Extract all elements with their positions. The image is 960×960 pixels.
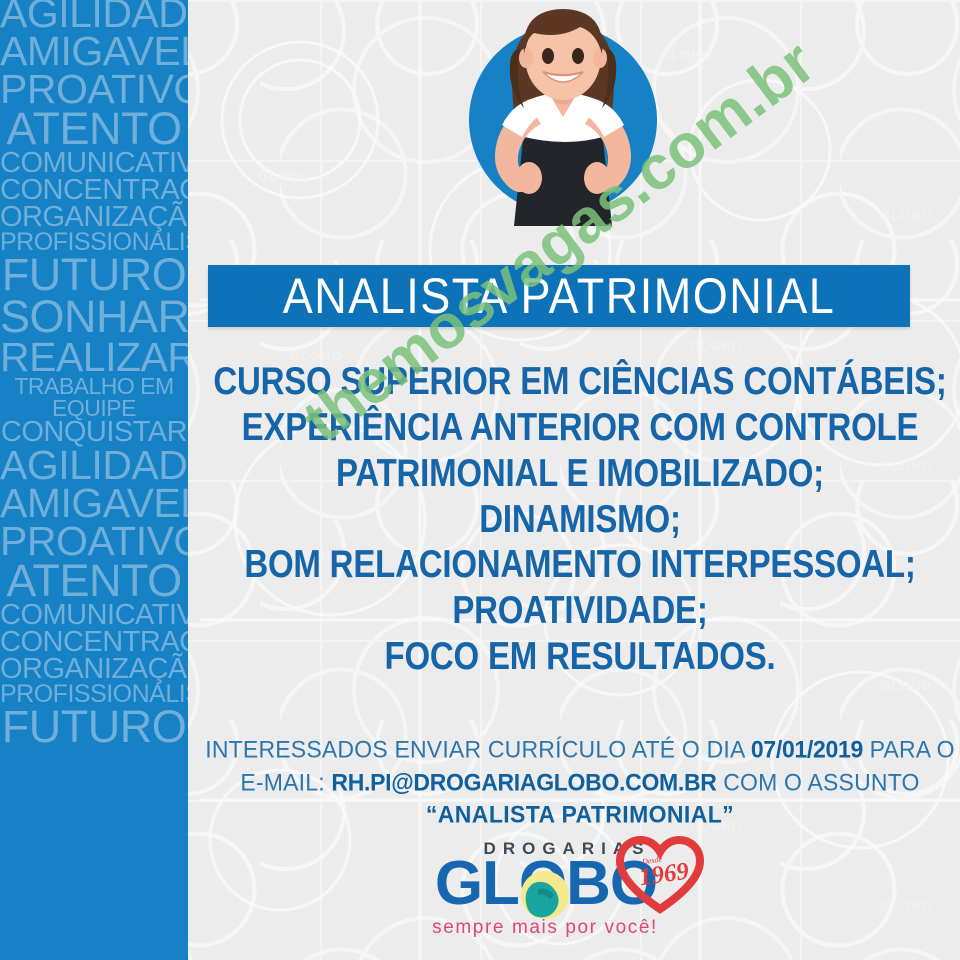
requirements-list: CURSO SUPERIOR EM CIÊNCIAS CONTÁBEIS;EXP… xyxy=(200,358,960,679)
keyword-item: ORGANIZAÇÃO xyxy=(0,656,188,683)
deadline-line: INTERESSADOS ENVIAR CURRÍCULO ATÉ O DIA … xyxy=(200,732,960,767)
company-logo: DROGARIAS GLOBO sempre mais por você! De… xyxy=(400,833,720,945)
keyword-sidebar: AGILIDADEAMIGAVELPROATIVOATENTOCOMUNICAT… xyxy=(0,0,188,960)
page-title: ANALISTA PATRIMONIAL xyxy=(283,267,836,325)
heart-badge: Desde 1969 xyxy=(614,835,706,917)
keyword-item: COMUNICATIVO xyxy=(0,150,188,177)
requirement-line: FOCO EM RESULTADOS. xyxy=(200,629,960,683)
email-prefix: E-MAIL: xyxy=(240,768,331,796)
email-subject: “ANALISTA PATRIMONIAL” xyxy=(200,797,960,832)
keyword-item: FUTURO xyxy=(0,254,188,296)
logo-globe-icon xyxy=(516,869,574,921)
keyword-item: CONCENTRAÇÃO xyxy=(0,177,188,204)
keyword-item: FUTURO xyxy=(0,706,188,748)
svg-text:GLOBO: GLOBO xyxy=(880,208,933,223)
svg-text:GLOBO: GLOBO xyxy=(258,168,311,183)
logo-tagline: sempre mais por você! xyxy=(430,917,660,939)
keyword-item: AMIGAVEL xyxy=(0,484,188,522)
svg-text:GLOBO: GLOBO xyxy=(880,898,933,913)
keyword-item: ATENTO xyxy=(0,560,188,602)
keyword-item: ORGANIZAÇÃO xyxy=(0,204,188,231)
keyword-item: AGILIDADE xyxy=(0,446,188,484)
deadline-prefix: INTERESSADOS ENVIAR CURRÍCULO ATÉ O DIA xyxy=(205,735,751,763)
deadline-suffix: PARA O xyxy=(863,735,955,763)
businesswoman-illustration xyxy=(452,2,674,234)
keyword-item: CONCENTRAÇÃO xyxy=(0,629,188,656)
contact-block: INTERESSADOS ENVIAR CURRÍCULO ATÉ O DIA … xyxy=(200,733,960,831)
email-line: E-MAIL: RH.PI@DROGARIAGLOBO.COM.BR COM O… xyxy=(200,765,960,800)
keyword-item: ATENTO xyxy=(0,108,188,150)
job-title-banner: ANALISTA PATRIMONIAL xyxy=(208,265,910,327)
deadline-date: 07/01/2019 xyxy=(751,735,863,763)
keyword-item: AMIGAVEL xyxy=(0,32,188,70)
job-posting-poster: GLOBO GLOBO GLOBO GLOBO GLOBO GLOBO GLOB… xyxy=(0,0,960,960)
keyword-item: COMUNICATIVO xyxy=(0,602,188,629)
keyword-item: SONHAR xyxy=(0,296,188,338)
svg-text:GLOBO: GLOBO xyxy=(690,338,743,353)
keyword-item: REALIZAR xyxy=(0,338,188,376)
email-suffix: COM O ASSUNTO xyxy=(717,768,920,796)
email-address[interactable]: RH.PI@DROGARIAGLOBO.COM.BR xyxy=(331,768,716,796)
keyword-list: AGILIDADEAMIGAVELPROATIVOATENTOCOMUNICAT… xyxy=(0,0,188,748)
